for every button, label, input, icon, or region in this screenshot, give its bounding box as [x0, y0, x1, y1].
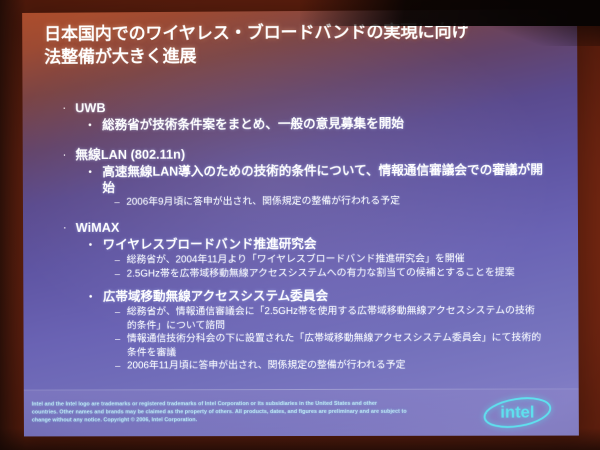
bullet-marker-round-icon: • [88, 118, 102, 134]
bullet-level1-wireless-lan: · 無線LAN (802.11n) [62, 143, 577, 163]
bullet-text: 情報通信技術分科会の下に設置された「広帯域移動無線アクセスシステム委員会」にて技… [127, 331, 547, 359]
spacer [23, 208, 578, 217]
bullet-level3: – 情報通信技術分科会の下に設置された「広帯域移動無線アクセスシステム委員会」に… [115, 331, 547, 359]
bullet-level2: • 広帯域移動無線アクセスシステム委員会 [89, 288, 578, 306]
bullet-level2: • 高速無線LAN導入のための技術的条件について、情報通信審議会での審議が開始 [88, 163, 546, 196]
legal-disclaimer: Intel and the Intel logo are trademarks … [32, 400, 471, 425]
bullet-marker-dash-icon: – [115, 306, 127, 320]
bullet-level2: • 総務省が技術条件案をまとめ、一般の意見募集を開始 [88, 115, 577, 134]
bullet-marker-dot-icon: · [62, 99, 75, 116]
bullet-text: 広帯域移動無線アクセスシステム委員会 [103, 288, 578, 305]
bullet-marker-round-icon: • [89, 290, 103, 306]
bullet-text: 総務省が技術条件案をまとめ、一般の意見募集を開始 [102, 115, 577, 133]
bullet-level3: – 2006年9月頃に答申が出され、関係規定の整備が行われる予定 [114, 194, 578, 210]
bullet-level1-wimax: · WiMAX [63, 217, 578, 236]
bullet-text: 2006年11月頃に答申が出され、関係規定の整備が行われる予定 [127, 359, 579, 374]
spacer [23, 280, 578, 288]
presentation-slide: 日本国内でのワイヤレス・ブロードバンドの実現に向け 法整備が大きく進展 · UW… [22, 9, 579, 436]
bullet-level3: – 総務省が、情報通信審議会に「2.5GHz帯を使用する広帯域移動無線アクセスシ… [115, 304, 535, 333]
bullet-marker-dot-icon: · [62, 146, 75, 163]
slide-body: · UWB • 総務省が技術条件案をまとめ、一般の意見募集を開始 · 無線LAN… [22, 93, 578, 374]
bullet-text: 総務省が、2004年11月より「ワイヤレスブロードバンド推進研究会」を開催 [127, 252, 579, 267]
bullet-marker-dash-icon: – [115, 254, 127, 268]
bullet-text: ワイヤレスブロードバンド推進研究会 [103, 236, 578, 253]
projected-slide-photo: 日本国内でのワイヤレス・ブロードバンドの実現に向け 法整備が大きく進展 · UW… [0, 0, 600, 450]
bullet-level3: – 2006年11月頃に答申が出され、関係規定の整備が行われる予定 [115, 359, 579, 374]
bullet-marker-round-icon: • [89, 238, 103, 254]
bullet-text: UWB [75, 96, 577, 116]
bullet-text: 2.5GHz帯を広帯域移動無線アクセスシステムへの有力な割当ての候補とすることを… [127, 266, 579, 281]
bullet-level2: • ワイヤレスブロードバンド推進研究会 [89, 236, 578, 254]
bullet-marker-dash-icon: – [115, 333, 127, 347]
bullet-level3: – 2.5GHz帯を広帯域移動無線アクセスシステムへの有力な割当ての候補とするこ… [115, 266, 579, 282]
photo-corner-shadow [480, 0, 600, 46]
intel-wordmark: intel [500, 404, 534, 422]
bullet-text: 総務省が、情報通信審議会に「2.5GHz帯を使用する広帯域移動無線アクセスシステ… [127, 304, 535, 332]
slide-title-line-2: 法整備が大きく進展 [44, 42, 556, 68]
bullet-marker-dash-icon: – [115, 268, 127, 282]
bullet-text: 高速無線LAN導入のための技術的条件について、情報通信審議会での審議が開始 [102, 163, 546, 196]
legal-line-2: countries. Other names and brands may be… [32, 408, 471, 417]
bullet-marker-dot-icon: · [63, 219, 76, 236]
bullet-text: WiMAX [76, 217, 578, 236]
intel-logo: intel [478, 394, 557, 430]
bullet-marker-round-icon: • [88, 165, 102, 181]
bullet-text: 2006年9月頃に答申が出され、関係規定の整備が行われる予定 [126, 194, 578, 210]
bullet-text: 無線LAN (802.11n) [75, 143, 577, 163]
bullet-marker-dash-icon: – [115, 360, 127, 374]
legal-line-3: change without any notice. Copyright © 2… [32, 416, 471, 425]
bullet-level1-uwb: · UWB [62, 96, 577, 116]
bullet-marker-dash-icon: – [114, 196, 126, 210]
